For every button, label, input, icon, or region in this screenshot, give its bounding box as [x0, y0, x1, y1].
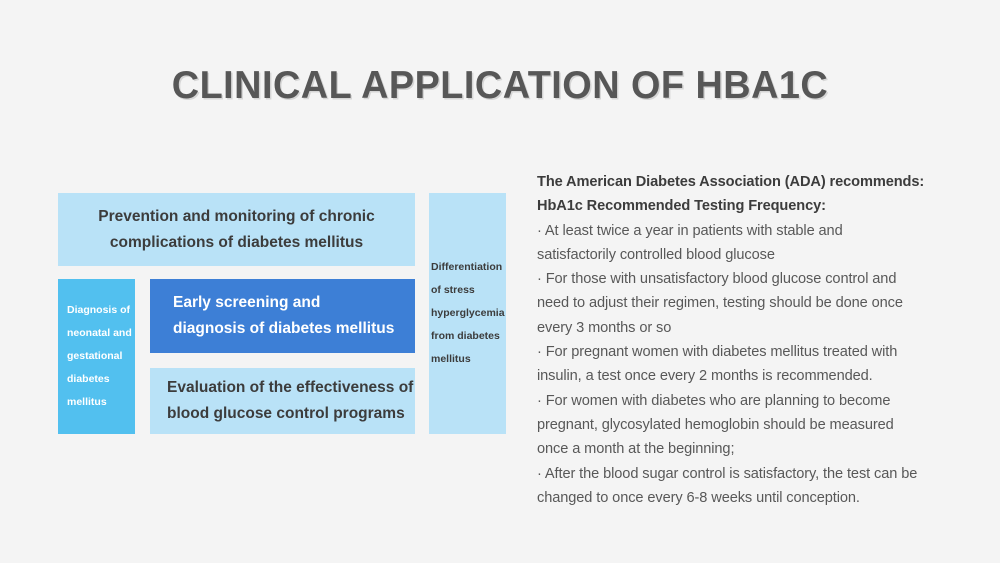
diagram-box-evaluation: Evaluation of the effectiveness of blood… [150, 368, 415, 434]
diagram-box-differentiation: Differentiation of stress hyperglycemia … [429, 193, 506, 434]
ada-body-line: · For those with unsatisfactory blood gl… [537, 267, 957, 291]
ada-body-line: pregnant, glycosylated hemoglobin should… [537, 413, 957, 437]
diagram-box-prevention-label: Prevention and monitoring of chronic com… [98, 204, 374, 256]
slide-canvas: CLINICAL APPLICATION OF HBA1C Prevention… [0, 0, 1000, 563]
diagram-box-evaluation-label: Evaluation of the effectiveness of blood… [150, 375, 413, 427]
diagram-box-differentiation-label: Differentiation of stress hyperglycemia … [429, 256, 505, 371]
ada-body-line: · For pregnant women with diabetes melli… [537, 340, 957, 364]
ada-body-line: need to adjust their regimen, testing sh… [537, 291, 957, 315]
diagram-box-neonatal-diagnosis: Diagnosis of neonatal and gestational di… [58, 279, 135, 434]
ada-body-line: changed to once every 6-8 weeks until co… [537, 486, 957, 510]
ada-body-line: once a month at the beginning; [537, 437, 957, 461]
ada-body-line: every 3 months or so [537, 316, 957, 340]
ada-heading-line-2: HbA1c Recommended Testing Frequency: [537, 194, 957, 218]
ada-body-line: satisfactorily controlled blood glucose [537, 243, 957, 267]
diagram-box-early-screening-label: Early screening and diagnosis of diabete… [150, 290, 394, 342]
page-title: CLINICAL APPLICATION OF HBA1C [15, 64, 985, 108]
ada-body-line: · At least twice a year in patients with… [537, 219, 957, 243]
ada-heading-line-1: The American Diabetes Association (ADA) … [537, 170, 957, 194]
diagram-box-neonatal-diagnosis-label: Diagnosis of neonatal and gestational di… [58, 299, 132, 414]
diagram-box-early-screening: Early screening and diagnosis of diabete… [150, 279, 415, 353]
diagram-box-prevention: Prevention and monitoring of chronic com… [58, 193, 415, 266]
ada-body-line: · After the blood sugar control is satis… [537, 462, 957, 486]
ada-body-line: insulin, a test once every 2 months is r… [537, 364, 957, 388]
ada-body-line: · For women with diabetes who are planni… [537, 389, 957, 413]
ada-recommendations-panel: The American Diabetes Association (ADA) … [537, 170, 957, 510]
